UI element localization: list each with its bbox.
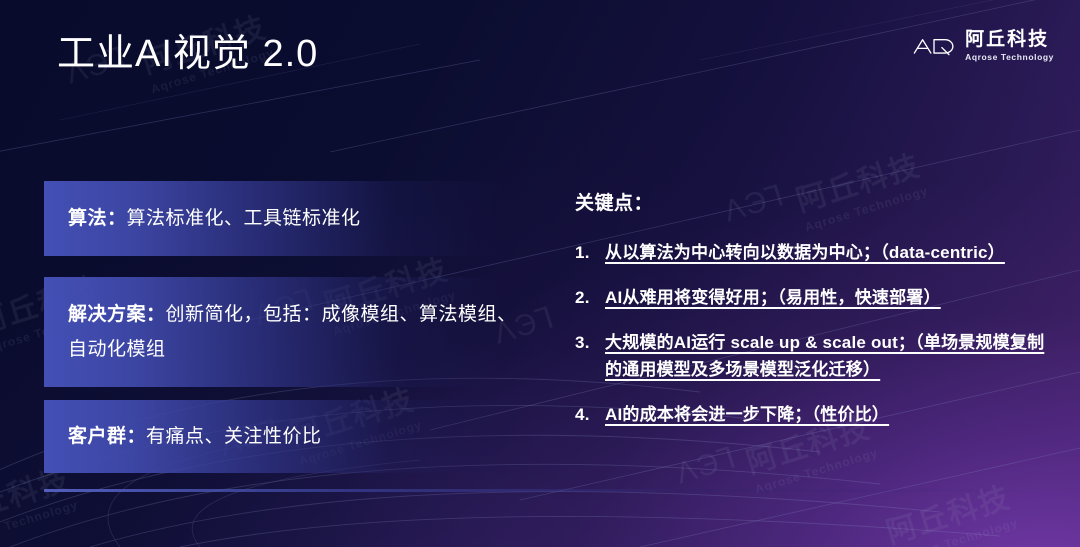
list-item: 1. 从以算法为中心转向以数据为中心；（data-centric） <box>575 239 1045 266</box>
point-box-customer-label: 客户群： <box>68 426 146 447</box>
list-item: 2. AI从难用将变得好用；（易用性，快速部署） <box>575 284 1045 311</box>
keypoints-heading: 关键点： <box>575 188 1045 215</box>
logo-text-block: 阿丘科技 Aqrose Technology <box>965 30 1054 62</box>
brand-logo: 阿丘科技 Aqrose Technology <box>912 30 1054 62</box>
logo-name-cn: 阿丘科技 <box>965 30 1054 49</box>
watermark-right-bottom: ΛЭ⅂ <box>672 440 741 491</box>
list-item: 4. AI的成本将会进一步下降；（性价比） <box>575 401 1045 428</box>
list-item-text: 大规模的AI运行 scale up & scale out；（单场景规模复制的通… <box>605 329 1045 383</box>
list-item: 3. 大规模的AI运行 scale up & scale out；（单场景规模复… <box>575 329 1045 383</box>
list-item-number: 2. <box>575 284 605 311</box>
list-item-text: AI从难用将变得好用；（易用性，快速部署） <box>605 284 1045 311</box>
right-keypoints-column: 关键点： 1. 从以算法为中心转向以数据为中心；（data-centric） 2… <box>575 188 1045 446</box>
page-title: 工业AI视觉 2.0 <box>57 30 318 78</box>
bottom-accent-strip <box>44 489 1080 492</box>
left-points-column: 算法：算法标准化、工具链标准化 解决方案：创新简化，包括：成像模组、算法模组、自… <box>44 181 544 473</box>
list-item-text: AI的成本将会进一步下降；（性价比） <box>605 401 1045 428</box>
list-item-number: 4. <box>575 401 605 428</box>
point-box-solution-label: 解决方案： <box>68 304 166 325</box>
logo-name-en: Aqrose Technology <box>965 53 1054 62</box>
point-box-algorithm-label: 算法： <box>68 208 127 229</box>
list-item-number: 1. <box>575 239 605 266</box>
aqrose-logo-mark-icon <box>912 33 956 59</box>
point-box-solution: 解决方案：创新简化，包括：成像模组、算法模组、自动化模组 <box>44 277 544 387</box>
list-item-number: 3. <box>575 329 605 356</box>
point-box-algorithm: 算法：算法标准化、工具链标准化 <box>44 181 544 256</box>
point-box-customer-text: 客户群：有痛点、关注性价比 <box>68 419 322 454</box>
point-box-solution-text: 解决方案：创新简化，包括：成像模组、算法模组、自动化模组 <box>68 297 522 367</box>
watermark-mark-icon: ΛЭ⅂ <box>672 440 741 491</box>
list-item-text: 从以算法为中心转向以数据为中心；（data-centric） <box>605 239 1045 266</box>
watermark-corner-bottom-right: 阿丘科技 Aqrose Technology <box>880 473 1020 547</box>
point-box-customer: 客户群：有痛点、关注性价比 <box>44 400 544 473</box>
slide-canvas: ΛЭ⅂ 阿丘科技 Aqrose Technology ΛЭ⅂ 阿丘科技 Aqro… <box>0 0 1080 547</box>
point-box-algorithm-body: 算法标准化、工具链标准化 <box>127 208 361 229</box>
point-box-algorithm-text: 算法：算法标准化、工具链标准化 <box>68 201 361 236</box>
point-box-customer-body: 有痛点、关注性价比 <box>146 426 322 447</box>
